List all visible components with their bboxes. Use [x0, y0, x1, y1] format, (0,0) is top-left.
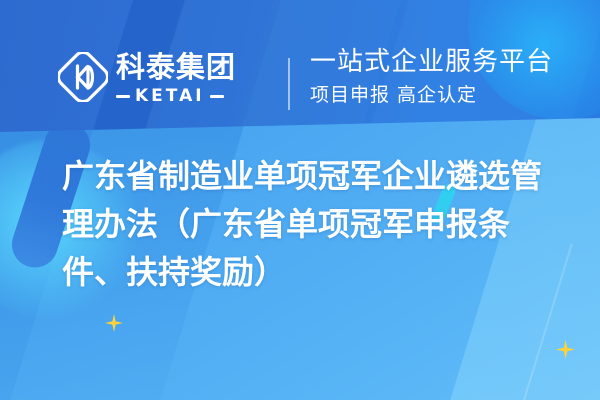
header-slogan: 一站式企业服务平台 项目申报 高企认定: [310, 46, 553, 109]
logo-dash-right-icon: [210, 95, 224, 98]
slogan-main-text: 一站式企业服务平台: [310, 46, 553, 78]
slogan-sub-text: 项目申报 高企认定: [310, 81, 553, 109]
promo-banner: 科泰集团 KETAI 一站式企业服务平台 项目申报 高企认定 广东省制造业单项冠…: [0, 0, 600, 400]
header-content: 科泰集团 KETAI 一站式企业服务平台 项目申报 高企认定: [0, 0, 600, 140]
logo-english-row: KETAI: [116, 86, 276, 106]
page-title: 广东省制造业单项冠军企业遴选管理办法（广东省单项冠军申报条件、扶持奖励）: [62, 152, 562, 296]
logo-company-name-en: KETAI: [135, 86, 205, 106]
logo-dash-left-icon: [116, 95, 130, 98]
logo-wordmark: 科泰集团 KETAI: [116, 51, 276, 106]
ketai-diamond-kd-logo-icon: [58, 52, 108, 102]
header-divider: [288, 58, 290, 110]
logo-company-name-cn: 科泰集团: [116, 51, 276, 83]
